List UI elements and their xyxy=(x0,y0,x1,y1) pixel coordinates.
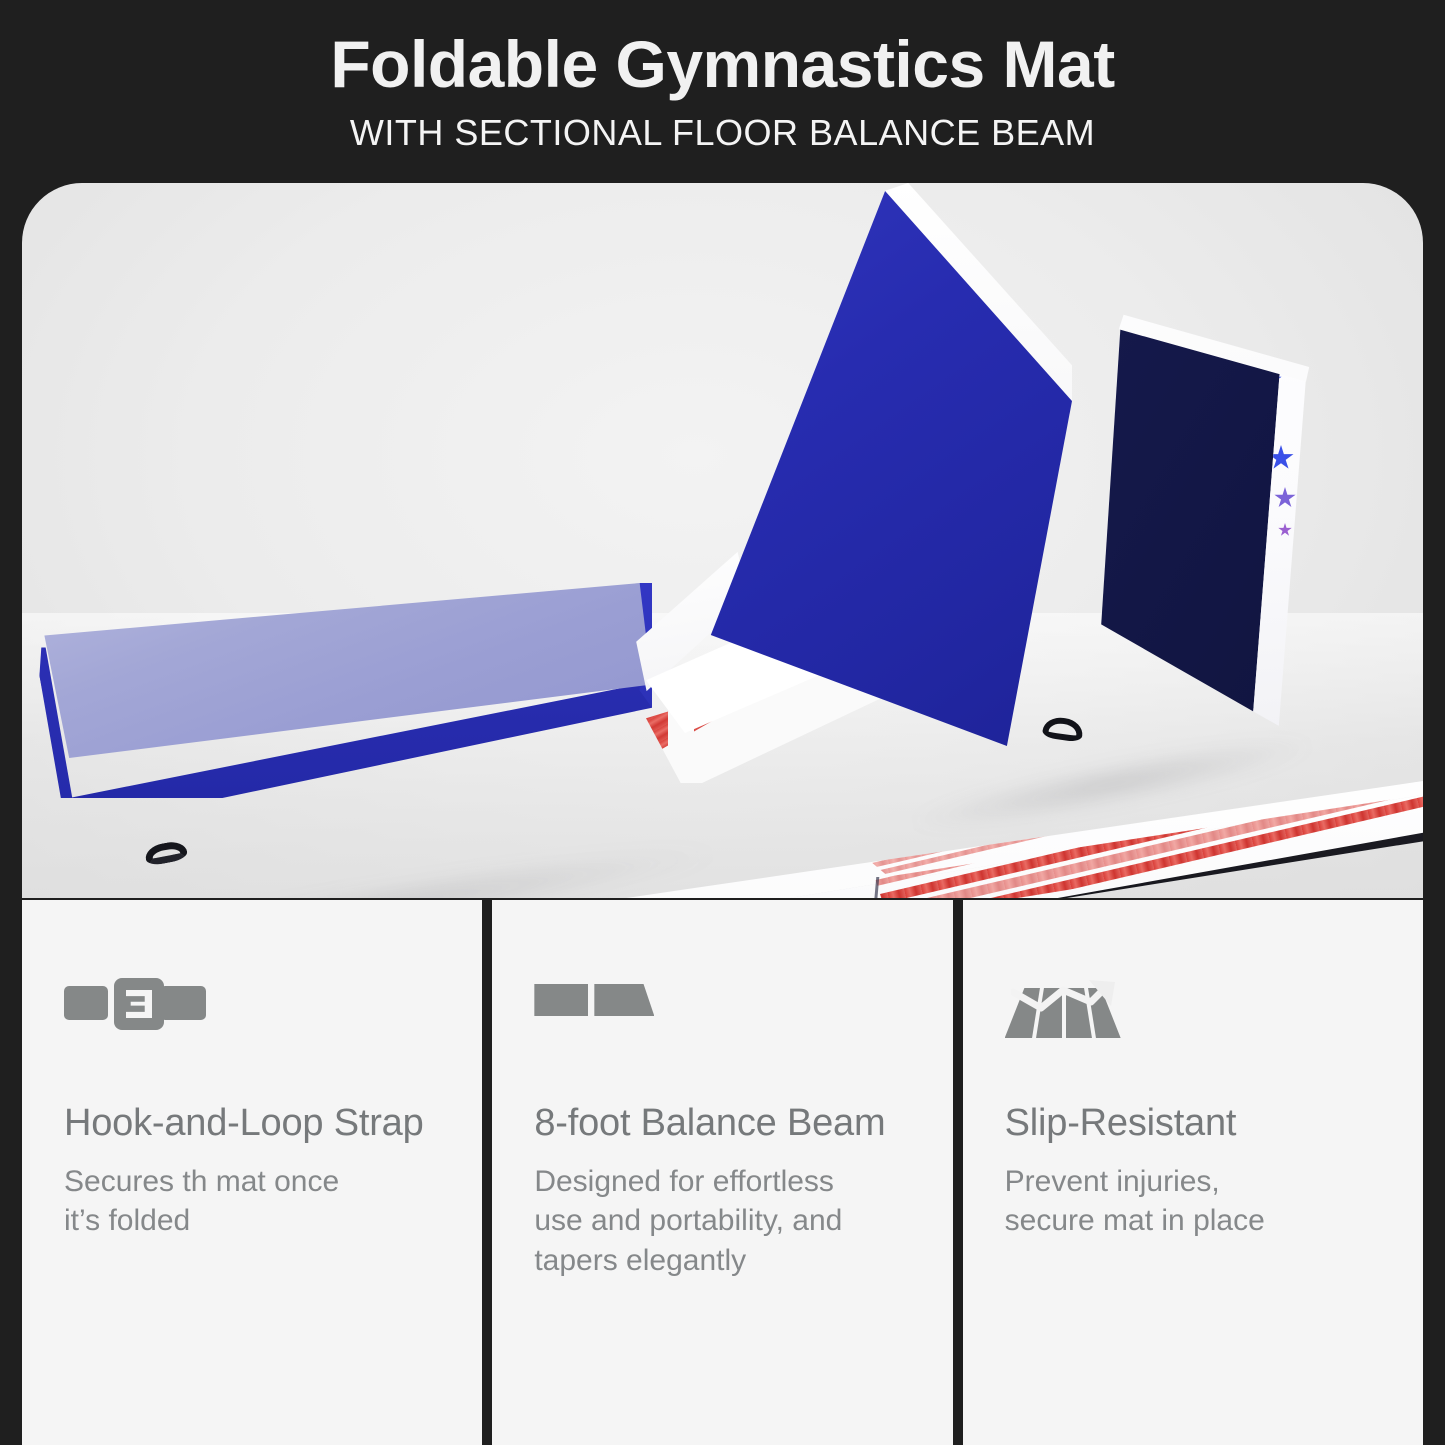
feature-description: Designed for effortless use and portabil… xyxy=(534,1162,910,1281)
feature-title: Hook-and-Loop Strap xyxy=(64,1102,440,1146)
feature-description: Secures th mat once it’s folded xyxy=(64,1162,440,1241)
strap-left-segment xyxy=(64,986,108,1020)
beam-segment-right-tapered xyxy=(594,984,654,1016)
product-image xyxy=(22,183,1423,898)
star-icon xyxy=(1252,297,1257,302)
feature-title: Slip-Resistant xyxy=(1005,1102,1381,1146)
strap-right-segment xyxy=(160,986,206,1020)
feature-card-hook-and-loop-strap: Hook-and-Loop Strap Secures th mat once … xyxy=(22,900,482,1445)
beam-sections-icon xyxy=(534,978,910,1040)
star-icon xyxy=(1255,321,1262,328)
star-icon xyxy=(1278,523,1292,537)
star-icon xyxy=(1274,487,1296,509)
strap-buckle-icon xyxy=(64,978,440,1040)
balance-beam xyxy=(172,763,1423,898)
flat-mat-top-face xyxy=(32,583,652,758)
page-header: Foldable Gymnastics Mat WITH SECTIONAL F… xyxy=(0,0,1445,183)
product-scene xyxy=(22,183,1423,898)
page-title: Foldable Gymnastics Mat xyxy=(0,30,1445,99)
slip-resistant-mat-icon xyxy=(1005,978,1381,1040)
feature-description: Prevent injuries, secure mat in place xyxy=(1005,1162,1381,1241)
folded-mat-tent xyxy=(622,183,1322,823)
upward-arrow-icon xyxy=(1011,978,1125,1018)
feature-cards: Hook-and-Loop Strap Secures th mat once … xyxy=(22,900,1423,1445)
feature-card-balance-beam: 8-foot Balance Beam Designed for effortl… xyxy=(492,900,952,1445)
beam-segment-left xyxy=(534,984,588,1016)
feature-title: 8-foot Balance Beam xyxy=(534,1102,910,1146)
feature-card-slip-resistant: Slip-Resistant Prevent injuries, secure … xyxy=(963,900,1423,1445)
tent-outer-blue-face xyxy=(652,191,1072,791)
page-subtitle: WITH SECTIONAL FLOOR BALANCE BEAM xyxy=(0,112,1445,154)
